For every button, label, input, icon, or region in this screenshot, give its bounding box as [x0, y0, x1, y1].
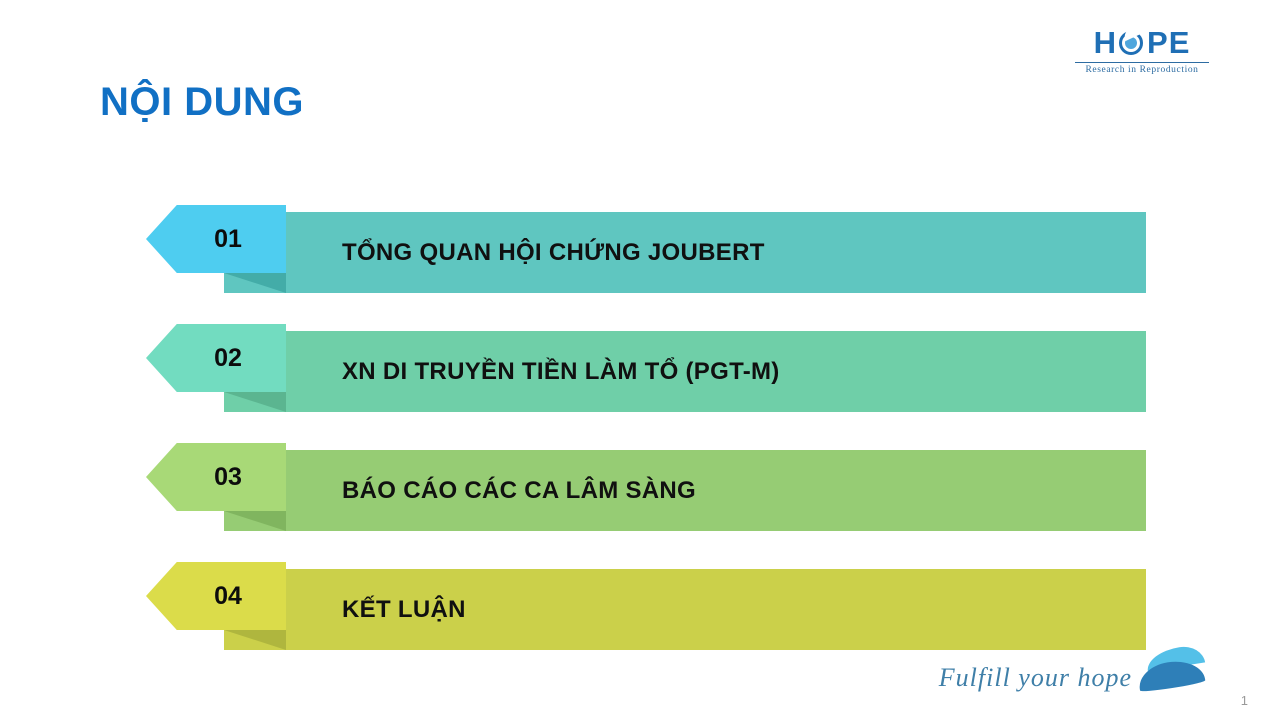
agenda-label-01: TỔNG QUAN HỘI CHỨNG JOUBERT	[224, 239, 765, 267]
agenda-number-01: 01	[190, 225, 242, 254]
agenda-number-03: 03	[190, 463, 242, 492]
logo-letter-e: E	[1169, 26, 1191, 60]
agenda-number-02: 02	[190, 344, 242, 373]
agenda-item-02[interactable]: XN DI TRUYỀN TIỀN LÀM TỔ (PGT-M) 02	[146, 324, 1146, 412]
agenda-number-04: 04	[190, 582, 242, 611]
agenda-tag-02: 02	[146, 324, 286, 392]
footer-tagline: Fulfill your hope	[939, 663, 1132, 693]
agenda-tag-01: 01	[146, 205, 286, 273]
agenda-list: TỔNG QUAN HỘI CHỨNG JOUBERT 01 XN DI TRU…	[146, 205, 1146, 681]
agenda-bar-04: KẾT LUẬN	[224, 569, 1146, 650]
leaf-logo-icon	[1136, 648, 1208, 690]
agenda-tag-04: 04	[146, 562, 286, 630]
agenda-bar-03: BÁO CÁO CÁC CA LÂM SÀNG	[224, 450, 1146, 531]
logo-letter-h: H	[1094, 26, 1117, 60]
agenda-bar-02: XN DI TRUYỀN TIỀN LÀM TỔ (PGT-M)	[224, 331, 1146, 412]
agenda-tag-03: 03	[146, 443, 286, 511]
logo-letter-p: P	[1147, 26, 1169, 60]
hope-logo: H P E Research in Reproduction	[1072, 26, 1212, 82]
logo-divider	[1075, 62, 1209, 63]
agenda-item-04[interactable]: KẾT LUẬN 04	[146, 562, 1146, 650]
logo-tagline: Research in Reproduction	[1072, 65, 1212, 75]
agenda-label-03: BÁO CÁO CÁC CA LÂM SÀNG	[224, 477, 696, 505]
agenda-item-03[interactable]: BÁO CÁO CÁC CA LÂM SÀNG 03	[146, 443, 1146, 531]
agenda-item-01[interactable]: TỔNG QUAN HỘI CHỨNG JOUBERT 01	[146, 205, 1146, 293]
agenda-bar-01: TỔNG QUAN HỘI CHỨNG JOUBERT	[224, 212, 1146, 293]
logo-wordmark: H P E	[1072, 26, 1212, 60]
logo-eye-icon	[1118, 29, 1146, 57]
agenda-label-02: XN DI TRUYỀN TIỀN LÀM TỔ (PGT-M)	[224, 358, 780, 386]
page-number: 1	[1241, 693, 1248, 708]
page-title: NỘI DUNG	[100, 80, 304, 125]
